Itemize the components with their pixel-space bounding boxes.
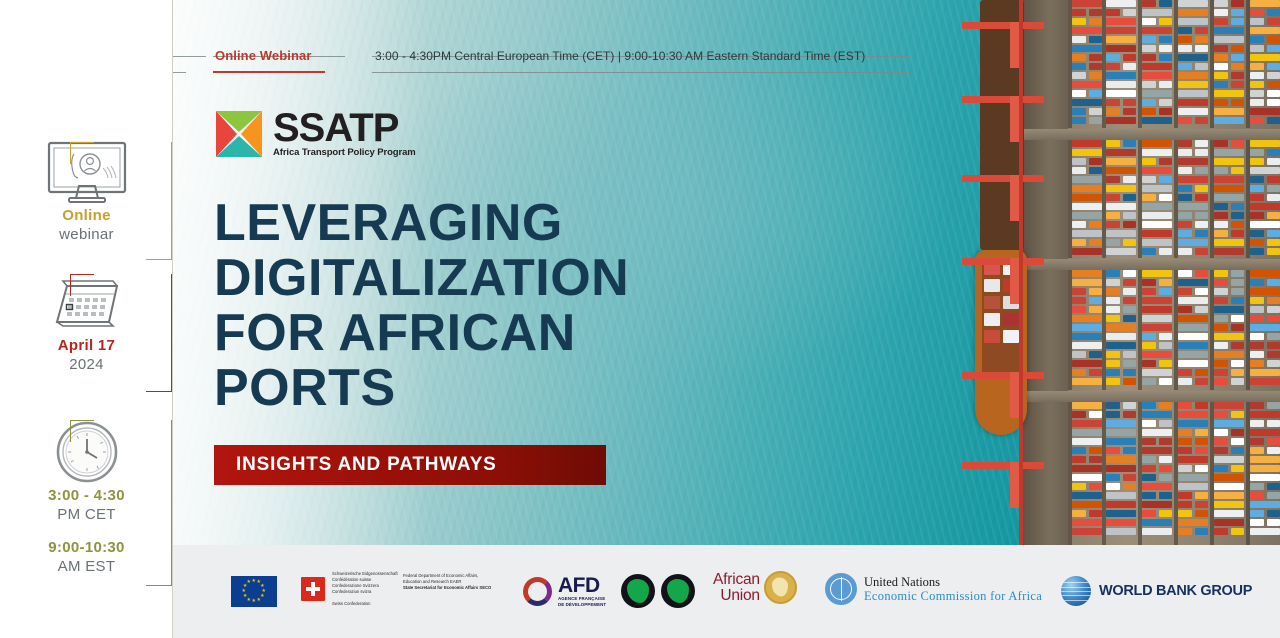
webinar-poster: April 17, 2024 Online Webinar 3:00 - 4:3… — [0, 0, 1280, 638]
sidebar-card-time: 3:00 - 4:30 PM CET 9:00-10:30 AM EST — [0, 418, 173, 576]
sidebar-card-date: April 17 2024 — [0, 272, 173, 374]
bracket-bottom-right — [146, 142, 172, 260]
uneca-line-2: Economic Commission for Africa — [864, 589, 1042, 604]
uneca-line-1: United Nations — [864, 575, 1042, 589]
african-union-line-2: Union — [713, 588, 760, 604]
event-time-label: 3:00 - 4:30PM Central European Time (CET… — [375, 49, 865, 63]
african-union-line-1: African — [713, 572, 760, 588]
bracket-top-left — [70, 420, 94, 442]
bracket-bottom-right — [146, 420, 172, 586]
swiss-cross-icon — [301, 577, 325, 601]
ssatp-mark-icon — [213, 108, 265, 160]
page-title: LEVERAGING DIGITALIZATION FOR AFRICAN PO… — [214, 196, 834, 416]
headline-line-4: PORTS — [214, 361, 834, 416]
info-sidebar: Online webinar — [0, 0, 173, 638]
ssatp-tagline: Africa Transport Policy Program — [273, 147, 416, 158]
afd-ring-icon — [523, 577, 552, 606]
swiss-line-4: Confederaziun svizra — [332, 589, 398, 595]
swiss-footer-line: Swiss Confederation — [332, 601, 398, 607]
type-rule-bottom — [213, 71, 325, 73]
partner-logo-uneca: United Nations Economic Commission for A… — [825, 573, 1042, 605]
ssatp-logo: SSATP Africa Transport Policy Program — [213, 108, 416, 160]
headline-line-3: FOR AFRICAN — [214, 306, 834, 361]
ssatp-name: SSATP — [273, 111, 416, 145]
partner-logo-african-union: African Union — [713, 571, 797, 604]
africa-emblem-icon — [661, 574, 695, 608]
partner-logo-afd: AFD AGENCE FRANÇAISE DE DÉVELOPPEMENT — [523, 575, 606, 608]
container-terminal — [1022, 0, 1280, 545]
partner-logo-seco: Federal Department of Economic Affairs, … — [403, 573, 491, 591]
afd-sub-2: DE DÉVELOPPEMENT — [558, 602, 606, 608]
bracket-top-left — [70, 142, 94, 164]
partner-logo-africa-emblem-2 — [661, 574, 695, 608]
un-globe-icon — [825, 573, 857, 605]
partner-logo-africa-emblem-1 — [621, 574, 655, 608]
subtitle-text: INSIGHTS AND PATHWAYS — [236, 454, 497, 476]
seco-line-3: State Secretariat for Economic Affairs S… — [403, 585, 491, 591]
african-union-emblem-icon — [764, 571, 797, 604]
world-bank-name: WORLD BANK GROUP — [1099, 583, 1252, 599]
partner-logo-bar: ★★★★★★★★★★★★ Schweizerische Eidgenossens… — [173, 545, 1280, 638]
africa-emblem-icon — [621, 574, 655, 608]
partner-logo-world-bank-group: WORLD BANK GROUP — [1061, 576, 1252, 606]
subtitle-ribbon: INSIGHTS AND PATHWAYS — [214, 445, 606, 485]
bracket-bottom-right — [146, 274, 172, 392]
partner-logo-european-union: ★★★★★★★★★★★★ — [231, 576, 277, 607]
afd-name: AFD — [558, 575, 606, 596]
bracket-top-left — [70, 274, 94, 296]
time-rule-bottom — [372, 72, 910, 73]
event-type-label: Online Webinar — [215, 48, 312, 63]
sidebar-card-online-webinar: Online webinar — [0, 140, 173, 244]
eu-flag-icon: ★★★★★★★★★★★★ — [231, 576, 277, 607]
partner-logo-swiss-confederation: Schweizerische Eidgenossenschaft Confédé… — [301, 571, 398, 607]
headline-line-2: DIGITALIZATION — [214, 251, 834, 306]
headline-line-1: LEVERAGING — [214, 196, 834, 251]
world-bank-globe-icon — [1061, 576, 1091, 606]
